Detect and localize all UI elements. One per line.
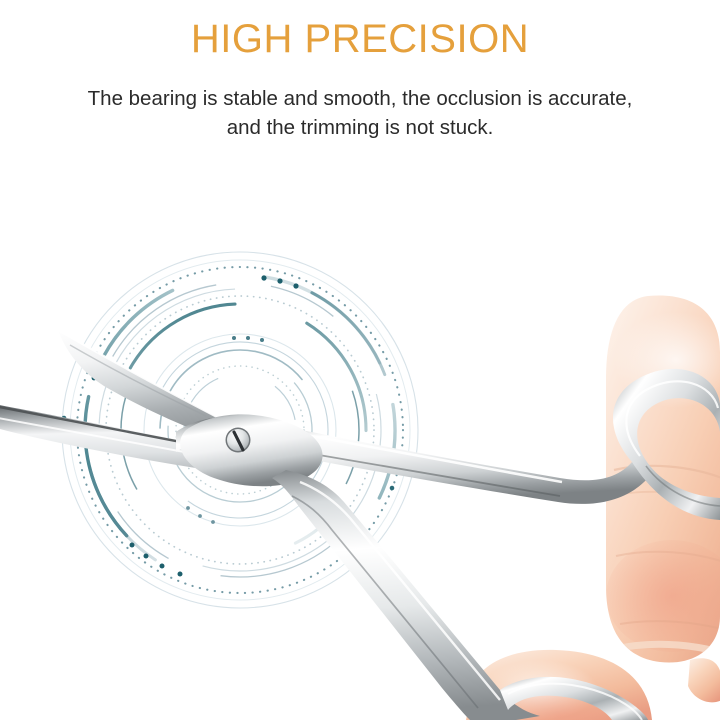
hud-inner-arc-b — [144, 334, 337, 527]
upper-shank-shade — [196, 443, 560, 496]
hud-mid-arc-a — [66, 256, 413, 603]
lower-blade-edge — [0, 406, 282, 462]
lower-handle-ring — [500, 677, 648, 720]
pivot-screw — [226, 428, 251, 453]
upper-handle-ring — [613, 369, 720, 520]
hud-outer-thin-arc-a — [52, 242, 428, 618]
page-title: HIGH PRECISION — [0, 16, 720, 62]
lower-ring-highlight — [508, 684, 642, 720]
upper-shank-highlight — [190, 425, 562, 482]
page-subtitle-line-1: The bearing is stable and smooth, the oc… — [40, 84, 680, 113]
upper-shank — [176, 417, 648, 504]
hud-outer-faint-circle-2 — [70, 260, 410, 600]
page-subtitle: The bearing is stable and smooth, the oc… — [40, 84, 680, 142]
hud-mid-arc-b — [77, 267, 402, 592]
hud-inner-dotted-ring — [176, 366, 304, 494]
pivot-housing — [180, 414, 322, 486]
cuticle-scissors — [0, 330, 720, 720]
lower-shank — [272, 470, 540, 720]
upper-ring-highlight — [626, 381, 718, 456]
lower-blade — [0, 404, 300, 478]
thumb-highlight — [482, 660, 598, 720]
hud-mid-dotted-ring — [106, 296, 374, 564]
upper-blade-shade — [70, 345, 206, 416]
hud-outer-dotted-ring — [77, 267, 403, 593]
fingernail-edge — [620, 644, 720, 654]
lower-shank-highlight — [300, 482, 500, 700]
index-finger — [606, 295, 720, 662]
finger-highlight — [614, 312, 720, 408]
knuckle-crease-1 — [614, 466, 720, 478]
hud-outer-thin-arc-b — [59, 249, 420, 610]
knuckle-crease-2 — [612, 492, 720, 504]
hud-inner-faint-circle — [144, 334, 336, 526]
hud-dot-single-right — [390, 486, 395, 491]
hud-inner-arc-a — [132, 322, 348, 538]
hud-inner-dot-cluster-bottom — [186, 506, 215, 524]
product-feature-banner: HIGH PRECISION The bearing is stable and… — [0, 0, 720, 720]
page-subtitle-line-2: and the trimming is not stuck. — [40, 113, 680, 142]
screw-slot — [234, 432, 243, 450]
knuckle-crease-3 — [616, 552, 720, 562]
upper-blade-highlight — [58, 330, 238, 428]
hud-inner-arc-c — [166, 356, 315, 505]
finger-blush — [606, 540, 720, 652]
fingertip-partial — [688, 658, 720, 702]
knuckle-crease-4 — [620, 621, 720, 630]
thumb-blush — [494, 690, 626, 720]
thumb — [466, 650, 720, 720]
upper-ring-shade — [646, 466, 720, 506]
lower-shank-shade — [292, 496, 478, 708]
technical-target-rings-graphic — [52, 242, 428, 618]
hud-outer-arc-b — [52, 242, 428, 618]
hud-dot-cluster-top — [261, 275, 298, 288]
hud-inner-dot-cluster — [232, 336, 264, 342]
hud-ring-group — [52, 242, 428, 618]
hud-dot-cluster-left — [92, 362, 104, 381]
hud-inner-arc-faint — [120, 310, 360, 550]
lower-blade-highlight — [0, 418, 284, 470]
hud-outer-faint-circle — [62, 252, 418, 608]
upper-blade — [58, 330, 258, 452]
hud-dot-cluster-bottom-left — [130, 543, 183, 577]
hud-dot-single-far-left — [62, 416, 67, 421]
hud-outer-arc-a — [70, 260, 411, 601]
